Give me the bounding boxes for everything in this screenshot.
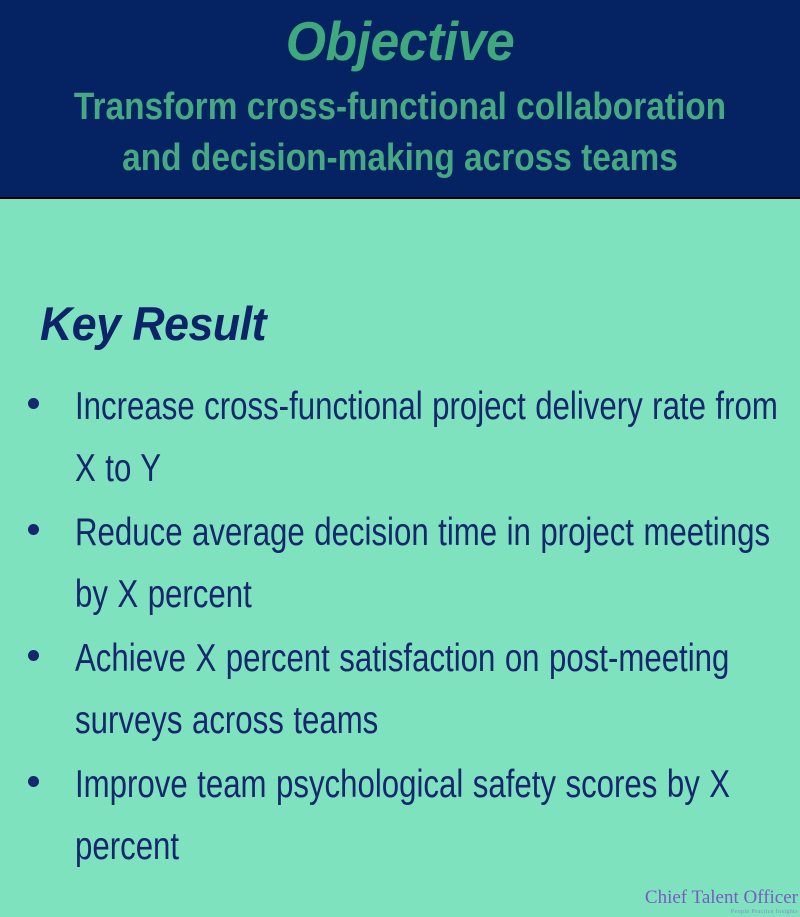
bullet-icon (28, 650, 39, 661)
list-item: Increase cross-functional project delive… (0, 376, 800, 500)
page-title: Objective (24, 8, 776, 74)
objective-subtitle: Transform cross-functional collaboration… (66, 82, 735, 184)
watermark-logo: Chief Talent Officer People Practice Ins… (645, 887, 798, 916)
bullet-icon (28, 524, 39, 535)
key-result-panel: Key Result Increase cross-functional pro… (0, 201, 800, 917)
key-result-list: Increase cross-functional project delive… (0, 376, 800, 880)
list-item-text: Improve team psychological safety scores… (75, 754, 800, 878)
bullet-icon (28, 398, 39, 409)
objective-subtitle-line-1: Transform cross-functional collaboration (66, 82, 735, 133)
list-item-text: Increase cross-functional project delive… (75, 376, 800, 500)
bullet-icon (28, 776, 39, 787)
watermark-title: Chief Talent Officer (645, 887, 798, 908)
key-result-heading: Key Result (40, 296, 266, 352)
watermark-tagline: People Practice Insights (645, 909, 798, 916)
list-item-text: Achieve X percent satisfaction on post-m… (75, 628, 800, 752)
list-item: Improve team psychological safety scores… (0, 754, 800, 878)
objective-subtitle-line-2: and decision-making across teams (66, 133, 735, 184)
list-item: Achieve X percent satisfaction on post-m… (0, 628, 800, 752)
list-item-text: Reduce average decision time in project … (75, 502, 800, 626)
objective-header-band: Objective Transform cross-functional col… (0, 0, 800, 199)
list-item: Reduce average decision time in project … (0, 502, 800, 626)
okr-card: Objective Transform cross-functional col… (0, 0, 800, 917)
